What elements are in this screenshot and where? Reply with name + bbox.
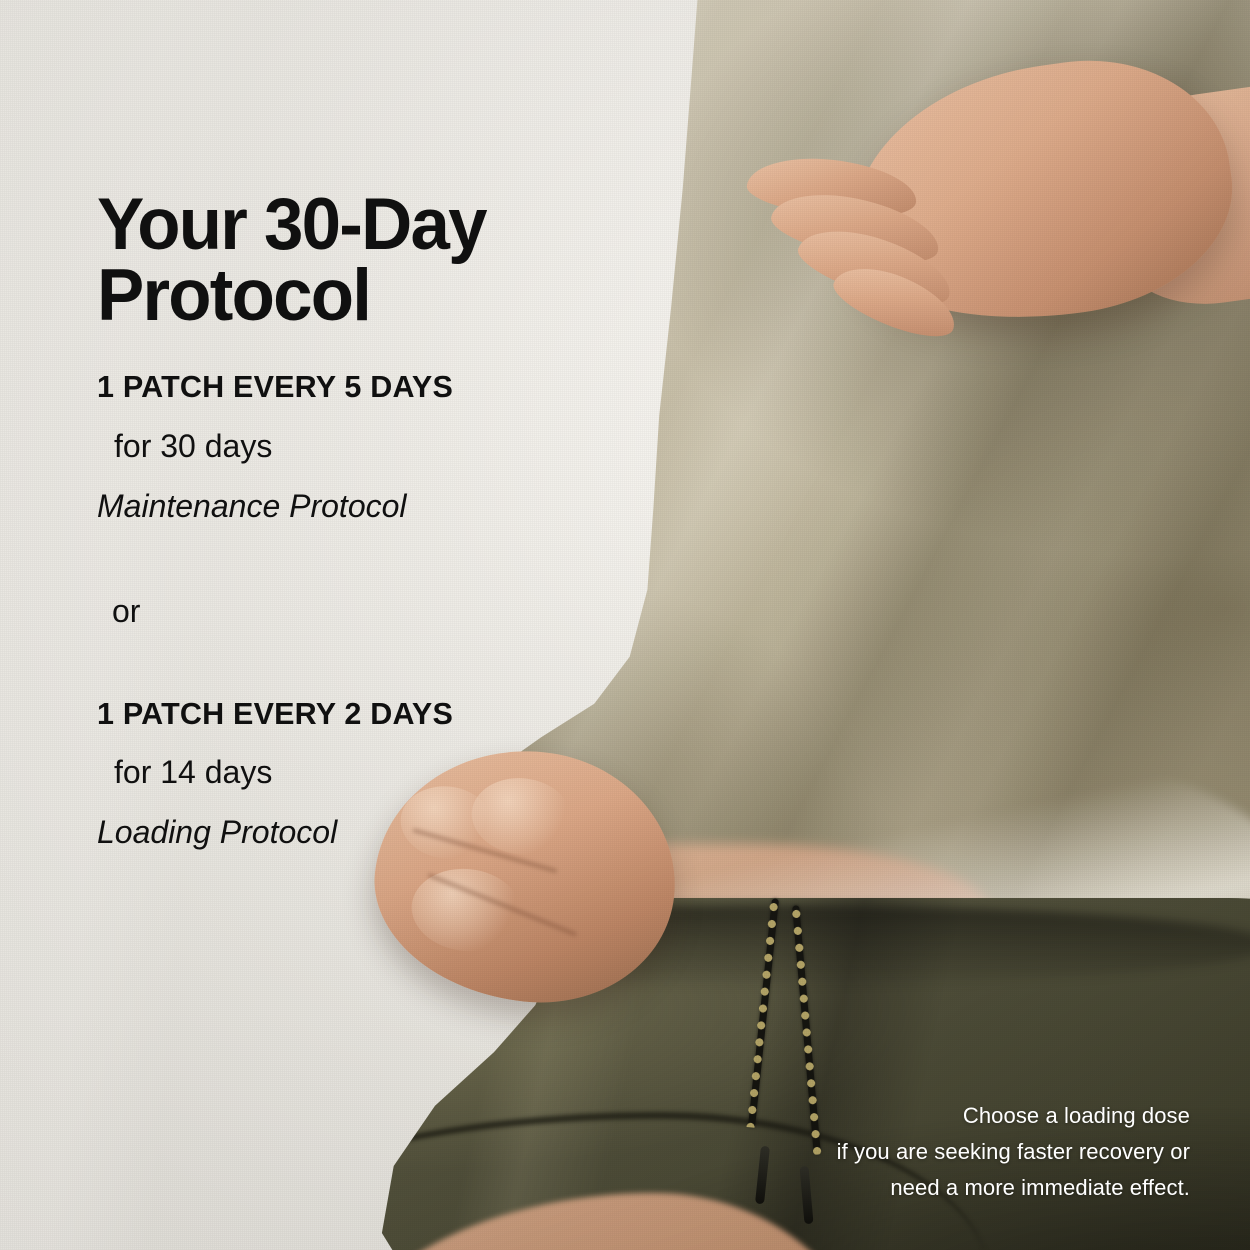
page-title: Your 30-DayProtocol [97,189,640,332]
page-title-line-2: Protocol [97,255,370,336]
footnote-line-1: Choose a loading dose [750,1098,1190,1134]
protocol-separator: or [112,595,697,627]
footnote-line-2: if you are seeking faster recovery or [750,1134,1190,1170]
footnote: Choose a loading dose if you are seeking… [750,1098,1190,1206]
footnote-line-3: need a more immediate effect. [750,1170,1190,1206]
protocol-b-duration: for 14 days [114,756,697,788]
protocol-list: 1 PATCH EVERY 5 DAYS for 30 days Mainten… [97,372,697,848]
protocol-a-duration: for 30 days [114,430,697,462]
protocol-a-dose: 1 PATCH EVERY 5 DAYS [97,372,697,403]
text-layer: Your 30-DayProtocol 1 PATCH EVERY 5 DAYS… [0,0,1250,1250]
protocol-poster: Your 30-DayProtocol 1 PATCH EVERY 5 DAYS… [0,0,1250,1250]
protocol-b-dose: 1 PATCH EVERY 2 DAYS [97,699,697,730]
protocol-b-name: Loading Protocol [97,816,697,848]
page-title-line-1: Your 30-Day [97,184,486,265]
protocol-a-name: Maintenance Protocol [97,490,697,522]
